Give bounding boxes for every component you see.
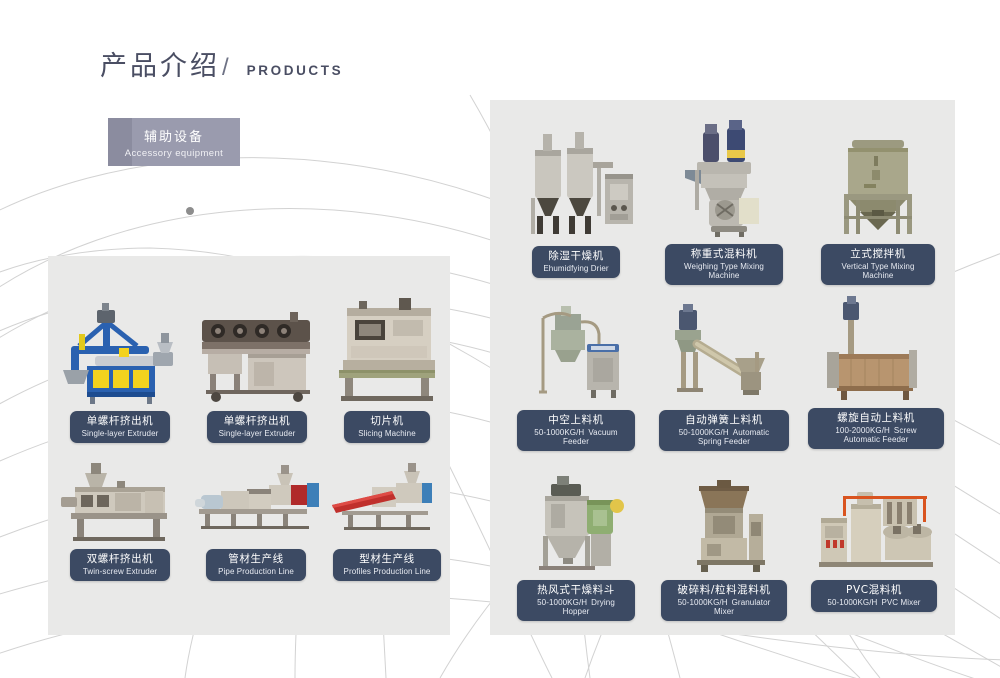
accessory-badge-stripe: [108, 118, 132, 166]
slicing-machine-icon: [329, 296, 445, 405]
product-label-cn: PVC混料机: [821, 584, 927, 596]
product-label-cn: 螺旋自动上料机: [818, 412, 934, 424]
dehumidifying-drier-icon: [513, 128, 639, 238]
extruder-blue-icon: [57, 300, 183, 405]
product-label-en: Single-layer Extruder: [80, 429, 160, 438]
accessory-badge-label-cn: 辅助设备: [144, 126, 204, 145]
product-label-en: Single-layer Extruder: [217, 429, 297, 438]
product-card-dehumidifying-drier[interactable]: 除湿干燥机 Ehumidfying Drier: [512, 128, 640, 278]
screw-feeder-icon: [807, 294, 945, 404]
accessory-equipment-badge: 辅助设备 Accessory equipment: [108, 118, 240, 166]
title-separator: /: [222, 54, 229, 82]
product-label-en: 50-1000KG/HDrying Hopper: [527, 598, 625, 616]
product-card-single-layer-extruder-2[interactable]: 单螺杆挤出机 Single-layer Extruder: [192, 300, 322, 443]
vacuum-feeder-icon: [513, 300, 639, 404]
pvc-mixer-icon: [807, 474, 941, 574]
extruder-roller-icon: [194, 300, 320, 405]
pipe-line-icon: [191, 455, 321, 543]
product-label[interactable]: 切片机 Slicing Machine: [344, 411, 430, 443]
product-label-en: 50-1000KG/HPVC Mixer: [821, 598, 927, 607]
product-card-spring-feeder[interactable]: 自动弹簧上料机 50-1000KG/HAutomatic Spring Feed…: [656, 300, 792, 451]
product-label-en: Profiles Production Line: [343, 567, 431, 576]
product-label[interactable]: 型材生产线 Profiles Production Line: [333, 549, 441, 581]
product-label-cn: 单螺杆挤出机: [80, 415, 160, 427]
product-label-cn: 中空上料机: [527, 414, 625, 426]
weighing-mixer-icon: [661, 114, 787, 238]
product-label-en: 50-1000KG/HVacuum Feeder: [527, 428, 625, 446]
product-label-cn: 单螺杆挤出机: [217, 415, 297, 427]
product-card-weighing-mixer[interactable]: 称重式混料机 Weighing Type Mixing Machine: [660, 114, 788, 285]
product-label-cn: 管材生产线: [216, 553, 296, 565]
product-label-en: Twin-screw Extruder: [80, 567, 160, 576]
product-card-drying-hopper[interactable]: 热风式干燥料斗 50-1000KG/HDrying Hopper: [512, 474, 640, 621]
capacity-value: 50-1000KG/H: [537, 598, 587, 607]
capacity-value: 100-2000KG/H: [835, 426, 890, 435]
product-card-vacuum-feeder[interactable]: 中空上料机 50-1000KG/HVacuum Feeder: [512, 300, 640, 451]
product-label[interactable]: 管材生产线 Pipe Production Line: [206, 549, 306, 581]
product-label-cn: 立式搅拌机: [831, 248, 925, 260]
page-title: 产品介绍 / PRODUCTS: [100, 44, 343, 83]
product-label-en: 50-1000KG/HAutomatic Spring Feeder: [669, 428, 779, 446]
product-card-twin-screw-extruder[interactable]: 双螺杆挤出机 Twin-screw Extruder: [55, 455, 185, 581]
product-label-cn: 切片机: [354, 415, 420, 427]
product-label-cn: 破碎料/粒料混料机: [671, 584, 777, 596]
product-label-en: Ehumidfying Drier: [542, 264, 610, 273]
product-label[interactable]: 破碎料/粒料混料机 50-1000KG/HGranulator Mixer: [661, 580, 787, 621]
product-label-en: Vertical Type Mixing Machine: [831, 262, 925, 280]
product-card-slicing-machine[interactable]: 切片机 Slicing Machine: [328, 296, 446, 443]
product-label-cn: 双螺杆挤出机: [80, 553, 160, 565]
product-label-en: Pipe Production Line: [216, 567, 296, 576]
product-card-granulator-mixer[interactable]: 破碎料/粒料混料机 50-1000KG/HGranulator Mixer: [660, 474, 788, 621]
product-label[interactable]: 双螺杆挤出机 Twin-screw Extruder: [70, 549, 170, 581]
catalog-page: 产品介绍 / PRODUCTS 辅助设备 Accessory equipment: [0, 0, 1000, 678]
product-label-cn: 热风式干燥料斗: [527, 584, 625, 596]
capacity-value: 50-1000KG/H: [678, 598, 728, 607]
product-label[interactable]: 中空上料机 50-1000KG/HVacuum Feeder: [517, 410, 635, 451]
granulator-mixer-icon: [661, 474, 787, 574]
product-label-en-text: PVC Mixer: [881, 598, 920, 607]
capacity-value: 50-1000KG/H: [679, 428, 729, 437]
capacity-value: 50-1000KG/H: [827, 598, 877, 607]
product-card-pipe-production-line[interactable]: 管材生产线 Pipe Production Line: [190, 455, 322, 581]
product-label[interactable]: 自动弹簧上料机 50-1000KG/HAutomatic Spring Feed…: [659, 410, 789, 451]
spring-feeder-icon: [657, 300, 791, 404]
product-label-cn: 除湿干燥机: [542, 250, 610, 262]
product-label[interactable]: 螺旋自动上料机 100-2000KG/HScrew Automatic Feed…: [808, 408, 944, 449]
product-card-pvc-mixer[interactable]: PVC混料机 50-1000KG/HPVC Mixer: [806, 474, 942, 612]
product-card-single-layer-extruder-1[interactable]: 单螺杆挤出机 Single-layer Extruder: [55, 300, 185, 443]
product-label[interactable]: 立式搅拌机 Vertical Type Mixing Machine: [821, 244, 935, 285]
product-card-vertical-mixer[interactable]: 立式搅拌机 Vertical Type Mixing Machine: [815, 126, 941, 285]
accessory-badge-label-en: Accessory equipment: [125, 148, 223, 159]
product-label-en: 100-2000KG/HScrew Automatic Feeder: [818, 426, 934, 444]
product-card-profiles-production-line[interactable]: 型材生产线 Profiles Production Line: [325, 455, 449, 581]
product-label-cn: 型材生产线: [343, 553, 431, 565]
product-label[interactable]: 称重式混料机 Weighing Type Mixing Machine: [665, 244, 783, 285]
drying-hopper-icon: [513, 474, 639, 574]
product-label-cn: 称重式混料机: [675, 248, 773, 260]
product-card-screw-feeder[interactable]: 螺旋自动上料机 100-2000KG/HScrew Automatic Feed…: [806, 294, 946, 449]
vertical-mixer-icon: [816, 126, 940, 238]
page-title-cn: 产品介绍: [100, 44, 220, 83]
product-label[interactable]: 热风式干燥料斗 50-1000KG/HDrying Hopper: [517, 580, 635, 621]
page-title-en: PRODUCTS: [247, 63, 344, 78]
product-label-en: Weighing Type Mixing Machine: [675, 262, 773, 280]
product-label-en: Slicing Machine: [354, 429, 420, 438]
twin-screw-extruder-icon: [57, 455, 183, 543]
product-label-cn: 自动弹簧上料机: [669, 414, 779, 426]
product-label[interactable]: 除湿干燥机 Ehumidfying Drier: [532, 246, 620, 278]
capacity-value: 50-1000KG/H: [534, 428, 584, 437]
product-label[interactable]: 单螺杆挤出机 Single-layer Extruder: [70, 411, 170, 443]
product-label-en: 50-1000KG/HGranulator Mixer: [671, 598, 777, 616]
product-label[interactable]: 单螺杆挤出机 Single-layer Extruder: [207, 411, 307, 443]
product-label[interactable]: PVC混料机 50-1000KG/HPVC Mixer: [811, 580, 937, 612]
profile-line-icon: [326, 455, 448, 543]
